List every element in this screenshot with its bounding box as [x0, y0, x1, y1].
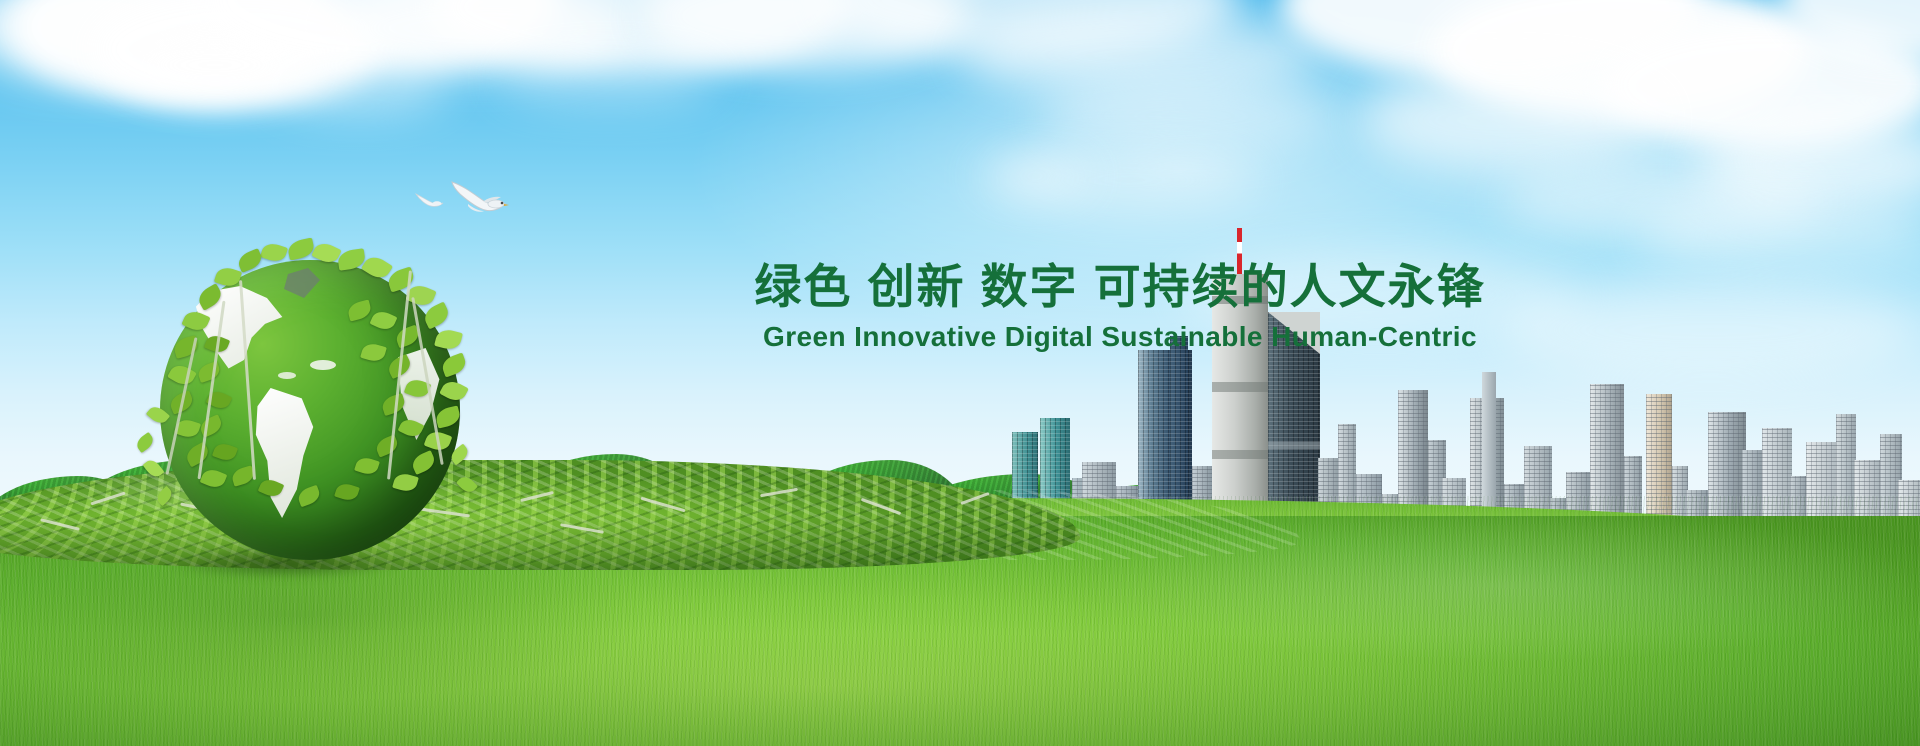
- continent-south-america: [246, 388, 328, 518]
- cloud-shape: [980, 160, 1090, 192]
- globe-sphere: [160, 260, 460, 560]
- cloud-shape: [270, 60, 450, 112]
- cloud-shape: [1360, 70, 1660, 170]
- headline-chinese: 绿色 创新 数字 可持续的人文永锋: [680, 262, 1560, 312]
- seagull-icon: [448, 176, 510, 221]
- continent-islands: [310, 360, 336, 370]
- cloud-shape: [1640, 200, 1920, 270]
- banner-headline: 绿色 创新 数字 可持续的人文永锋 Green Innovative Digit…: [680, 262, 1560, 353]
- continent-islands: [278, 372, 296, 379]
- continent-greenland: [280, 268, 320, 298]
- continent-north-america: [194, 286, 290, 372]
- eco-city-banner: 绿色 创新 数字 可持续的人文永锋 Green Innovative Digit…: [0, 0, 1920, 746]
- headline-english: Green Innovative Digital Sustainable Hum…: [680, 321, 1560, 353]
- seagull-icon-small: [414, 190, 444, 215]
- earth-globe: [150, 240, 470, 570]
- cloud-shape: [1040, 80, 1340, 152]
- continent-africa-edge: [398, 348, 444, 440]
- cloud-shape: [500, 55, 720, 103]
